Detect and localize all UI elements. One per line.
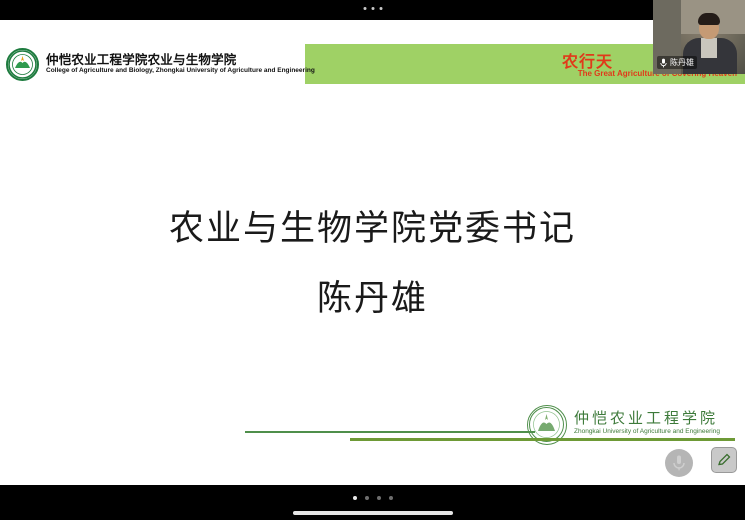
self-view-person-shirt bbox=[701, 38, 717, 58]
footer-university-en: Zhongkai University of Agriculture and E… bbox=[574, 428, 720, 435]
footer-university-cn: 仲恺农业工程学院 bbox=[574, 407, 718, 428]
self-view-name-label: 陈丹雄 bbox=[657, 56, 697, 69]
page-dot-1[interactable] bbox=[353, 496, 357, 500]
home-indicator[interactable] bbox=[293, 511, 453, 515]
self-view-participant-name: 陈丹雄 bbox=[670, 57, 694, 68]
bottom-bar bbox=[0, 485, 745, 520]
annotate-button[interactable] bbox=[711, 447, 737, 473]
footer-rule-thick bbox=[350, 438, 735, 441]
slide-title-line-1: 农业与生物学院党委书记 bbox=[0, 200, 745, 251]
top-dot bbox=[379, 7, 382, 10]
slide-header-org-cn: 仲恺农业工程学院农业与生物学院 bbox=[46, 49, 237, 68]
microphone-icon bbox=[660, 58, 667, 68]
page-dot-3[interactable] bbox=[377, 496, 381, 500]
microphone-icon bbox=[672, 454, 686, 472]
university-logo-icon bbox=[6, 48, 39, 81]
top-status-bar bbox=[0, 0, 745, 20]
self-view-person-hair bbox=[698, 13, 720, 25]
top-dots-indicator bbox=[363, 7, 382, 10]
slide-header-band: 仲恺农业工程学院农业与生物学院 College of Agriculture a… bbox=[0, 44, 745, 84]
pen-annotate-icon bbox=[716, 452, 732, 468]
page-dot-2[interactable] bbox=[365, 496, 369, 500]
mic-toggle-button[interactable] bbox=[665, 449, 693, 477]
page-dot-4[interactable] bbox=[389, 496, 393, 500]
top-dot bbox=[363, 7, 366, 10]
meeting-screen-share-view: 仲恺农业工程学院农业与生物学院 College of Agriculture a… bbox=[0, 0, 745, 520]
page-indicator-dots[interactable] bbox=[353, 496, 393, 500]
top-dot bbox=[371, 7, 374, 10]
shared-slide-canvas[interactable]: 仲恺农业工程学院农业与生物学院 College of Agriculture a… bbox=[0, 20, 745, 485]
self-view-video[interactable]: 陈丹雄 bbox=[653, 0, 745, 74]
slide-title-line-2: 陈丹雄 bbox=[0, 270, 745, 321]
footer-rule-thin bbox=[245, 431, 535, 433]
slide-header-org-en: College of Agriculture and Biology, Zhon… bbox=[46, 67, 315, 74]
